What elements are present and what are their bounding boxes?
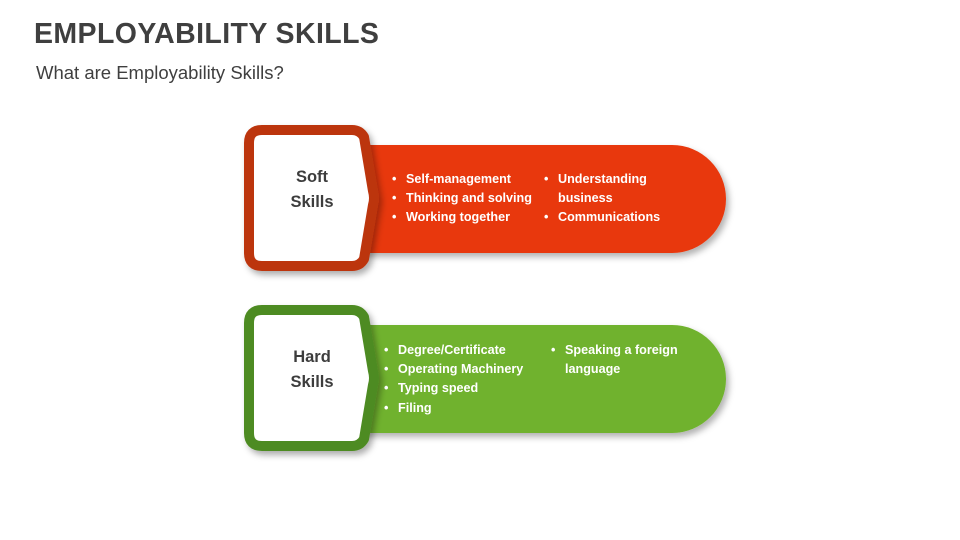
hard-skills-bullet-column-1: • Degree/Certificate • Operating Machine… [384,341,551,418]
bullet-dot-icon: • [392,189,406,208]
hard-skills-badge-shape [249,310,374,446]
list-item: • Working together [392,208,544,227]
list-item-continuation: • business [544,189,694,208]
soft-skills-bullet-column-1: • Self-management • Thinking and solving… [392,170,544,228]
bullet-dot-icon: • [544,170,558,189]
list-item-continuation: • language [551,360,701,379]
list-item: • Self-management [392,170,544,189]
list-item-label: Understanding [558,170,647,189]
soft-skills-band: • Self-management • Thinking and solving… [0,125,960,280]
list-item: • Understanding [544,170,694,189]
page-title: EMPLOYABILITY SKILLS [34,18,379,51]
soft-skills-bullet-column-2: • Understanding • business • Communicati… [544,170,694,228]
list-item-label: Thinking and solving [406,189,532,208]
bullet-dot-icon: • [392,208,406,227]
bullet-dot-icon: • [384,379,398,398]
list-item: • Filing [384,399,551,418]
list-item: • Typing speed [384,379,551,398]
list-item-label: Speaking a foreign [565,341,678,360]
list-item: • Operating Machinery [384,360,551,379]
list-item-label: Typing speed [398,379,478,398]
hard-skills-bullet-column-2: • Speaking a foreign • language [551,341,701,379]
bullet-dot-icon: • [384,341,398,360]
hard-skills-band: • Degree/Certificate • Operating Machine… [0,305,960,460]
soft-skills-bullet-list: • Self-management • Thinking and solving… [392,170,694,228]
bullet-dot-icon: • [392,170,406,189]
hard-skills-bullet-list: • Degree/Certificate • Operating Machine… [384,341,701,418]
list-item-label: business [558,189,613,208]
list-item-label: Communications [558,208,660,227]
list-item: • Speaking a foreign [551,341,701,360]
list-item-label: Working together [406,208,510,227]
list-item-label: Self-management [406,170,511,189]
bullet-dot-icon: • [384,399,398,418]
list-item: • Communications [544,208,694,227]
bullet-dot-icon: • [544,208,558,227]
list-item-label: language [565,360,620,379]
list-item-label: Filing [398,399,432,418]
list-item: • Thinking and solving [392,189,544,208]
hard-skills-badge: Hard Skills [244,305,380,451]
page-subtitle: What are Employability Skills? [36,62,284,84]
list-item-label: Operating Machinery [398,360,523,379]
soft-skills-badge: Soft Skills [244,125,380,271]
list-item-label: Degree/Certificate [398,341,506,360]
soft-skills-badge-shape [249,130,374,266]
bullet-dot-icon: • [551,341,565,360]
bullet-dot-icon: • [384,360,398,379]
list-item: • Degree/Certificate [384,341,551,360]
